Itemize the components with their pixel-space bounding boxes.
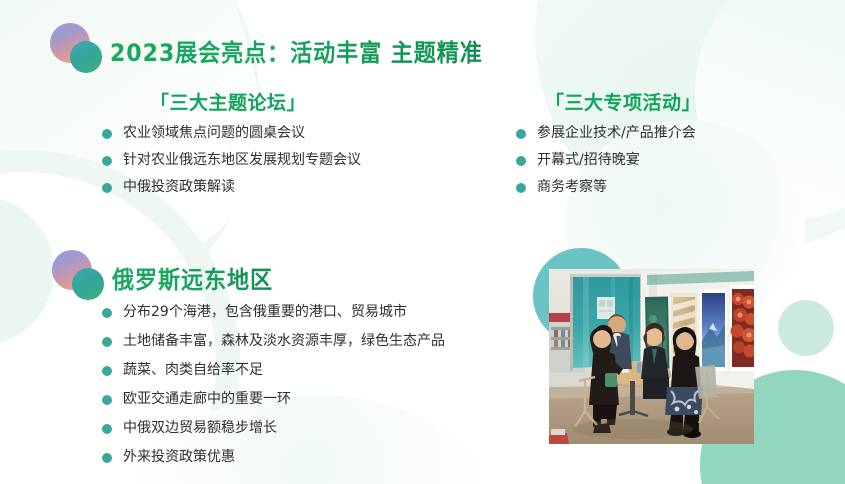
list-item: 中俄双边贸易额稳步增长 <box>102 419 445 438</box>
bullet-dot-icon <box>516 183 526 193</box>
list-item-label: 参展企业技术/产品推介会 <box>537 124 696 143</box>
ornament-teal-circle-icon <box>70 41 102 73</box>
slide-root: 2023展会亮点：活动丰富 主题精准 「三大主题论坛」 农业领域焦点问题的圆桌会… <box>0 0 845 484</box>
list-item-label: 蔬菜、肉类自给率不足 <box>123 361 263 380</box>
column-subtitle-activities: 「三大专项活动」 <box>545 88 701 115</box>
list-item-label: 商务考察等 <box>537 178 607 197</box>
bullet-dot-icon <box>102 337 112 347</box>
background-blob-top-right <box>695 0 845 220</box>
heading-ornament-bottom <box>52 250 112 302</box>
list-item: 分布29个海港，包含俄重要的港口、贸易城市 <box>102 303 445 322</box>
decor-circle-mint-small <box>778 300 834 356</box>
list-item: 商务考察等 <box>516 178 696 197</box>
bullet-dot-icon <box>102 366 112 376</box>
list-item: 土地储备丰富，森林及淡水资源丰厚，绿色生态产品 <box>102 332 445 351</box>
bullet-list-far-east: 分布29个海港，包含俄重要的港口、贸易城市 土地储备丰富，森林及淡水资源丰厚，绿… <box>102 303 445 477</box>
column-subtitle-forums: 「三大主题论坛」 <box>150 88 306 115</box>
bullet-dot-icon <box>102 308 112 318</box>
list-item: 农业领域焦点问题的圆桌会议 <box>102 124 361 143</box>
bullet-dot-icon <box>516 129 526 139</box>
list-item: 欧亚交通走廊中的重要一环 <box>102 390 445 409</box>
list-item-label: 针对农业俄远东地区发展规划专题会议 <box>123 151 361 170</box>
bullet-dot-icon <box>102 424 112 434</box>
list-item: 开幕式/招待晚宴 <box>516 151 696 170</box>
list-item-label: 欧亚交通走廊中的重要一环 <box>123 390 291 409</box>
bullet-dot-icon <box>102 453 112 463</box>
bullet-dot-icon <box>102 129 112 139</box>
bullet-dot-icon <box>516 156 526 166</box>
list-item-label: 农业领域焦点问题的圆桌会议 <box>123 124 305 143</box>
exhibition-photo <box>549 269 754 444</box>
section-title-far-east: 俄罗斯远东地区 <box>112 260 273 295</box>
bullet-dot-icon <box>102 156 112 166</box>
list-item-label: 外来投资政策优惠 <box>123 448 235 467</box>
heading-ornament-top <box>50 23 110 75</box>
bullet-list-forums: 农业领域焦点问题的圆桌会议 针对农业俄远东地区发展规划专题会议 中俄投资政策解读 <box>102 124 361 205</box>
list-item: 中俄投资政策解读 <box>102 178 361 197</box>
list-item-label: 中俄双边贸易额稳步增长 <box>123 419 277 438</box>
list-item: 针对农业俄远东地区发展规划专题会议 <box>102 151 361 170</box>
bullet-dot-icon <box>102 183 112 193</box>
list-item-label: 中俄投资政策解读 <box>123 178 235 197</box>
bullet-list-activities: 参展企业技术/产品推介会 开幕式/招待晚宴 商务考察等 <box>516 124 696 205</box>
list-item-label: 分布29个海港，包含俄重要的港口、贸易城市 <box>123 303 407 322</box>
slide-title: 2023展会亮点：活动丰富 主题精准 <box>110 33 483 68</box>
list-item-label: 土地储备丰富，森林及淡水资源丰厚，绿色生态产品 <box>123 332 445 351</box>
background-notch-left <box>0 196 54 346</box>
list-item: 参展企业技术/产品推介会 <box>516 124 696 143</box>
list-item: 蔬菜、肉类自给率不足 <box>102 361 445 380</box>
list-item: 外来投资政策优惠 <box>102 448 445 467</box>
bullet-dot-icon <box>102 395 112 405</box>
ornament-teal-circle-icon <box>72 268 104 300</box>
list-item-label: 开幕式/招待晚宴 <box>537 151 640 170</box>
